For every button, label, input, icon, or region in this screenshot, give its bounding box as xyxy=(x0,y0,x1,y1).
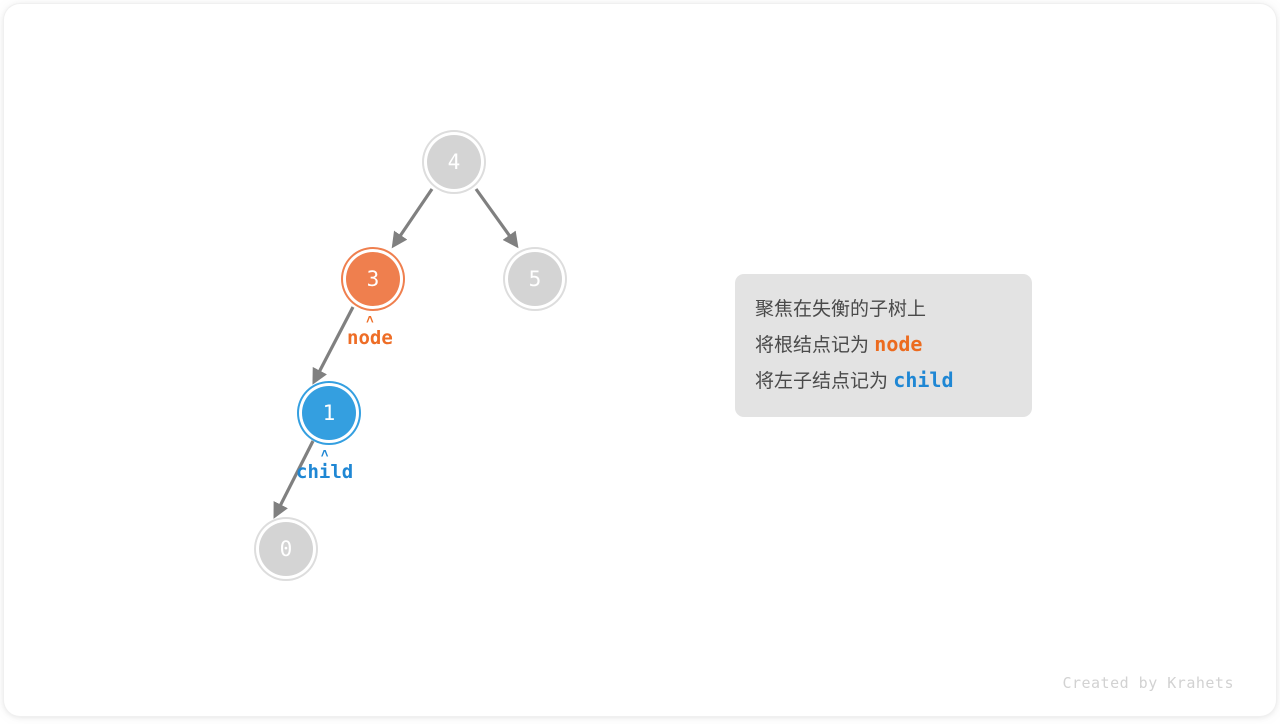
edge-4-5 xyxy=(476,189,514,242)
caret-up-icon: ˄ xyxy=(366,315,374,327)
caption-line-3: 将左子结点记为 child xyxy=(755,363,1010,399)
tree-node-0-value: 0 xyxy=(280,539,293,560)
tree-edges xyxy=(4,4,1280,724)
caption-line-3-prefix: 将左子结点记为 xyxy=(755,371,888,392)
tree-node-1-value: 1 xyxy=(323,403,336,424)
caption-line-3-code: child xyxy=(893,368,953,392)
caret-up-icon: ˄ xyxy=(321,449,329,461)
pointer-node: ˄ node xyxy=(347,315,393,348)
diagram-stage: 4 3 5 1 0 ˄ node ˄ child xyxy=(4,4,1276,716)
pointer-child-label: child xyxy=(296,463,353,482)
caption-line-2-prefix: 将根结点记为 xyxy=(755,335,869,356)
tree-node-4[interactable]: 4 xyxy=(427,135,481,189)
caption-line-2-code: node xyxy=(874,332,922,356)
caption-line-1: 聚焦在失衡的子树上 xyxy=(755,292,1010,327)
slide-card: 4 3 5 1 0 ˄ node ˄ child xyxy=(4,4,1276,716)
tree-node-0[interactable]: 0 xyxy=(259,522,313,576)
tree-node-3-value: 3 xyxy=(367,269,380,290)
tree-node-5[interactable]: 5 xyxy=(508,252,562,306)
tree-node-5-value: 5 xyxy=(529,269,542,290)
edge-4-3 xyxy=(396,189,432,242)
pointer-node-label: node xyxy=(347,329,393,348)
caption-line-2: 将根结点记为 node xyxy=(755,327,1010,363)
diagram-canvas: 4 3 5 1 0 ˄ node ˄ child xyxy=(0,0,1280,720)
tree-node-1[interactable]: 1 xyxy=(302,386,356,440)
caption-box: 聚焦在失衡的子树上 将根结点记为 node 将左子结点记为 child xyxy=(735,274,1032,417)
credit-text: Created by Krahets xyxy=(1062,674,1234,692)
pointer-child: ˄ child xyxy=(296,449,353,482)
tree-node-3[interactable]: 3 xyxy=(346,252,400,306)
tree-node-4-value: 4 xyxy=(448,152,461,173)
